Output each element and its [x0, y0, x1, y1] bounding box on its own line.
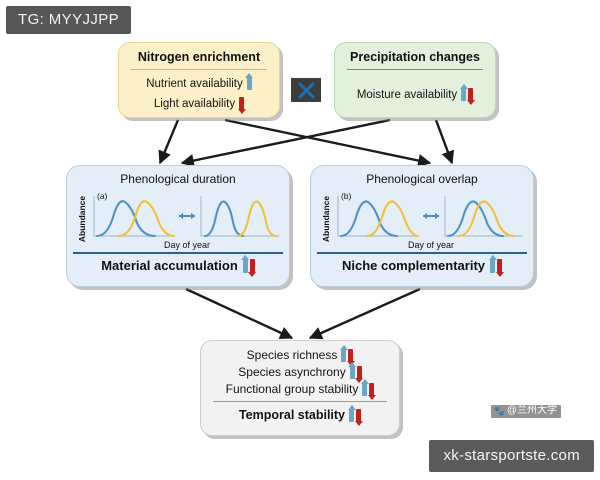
mechanism-panel-phenological-duration[interactable]: Phenological duration Abundance (a) — [66, 165, 290, 287]
divider-nitrogen — [131, 69, 267, 70]
arrow-down-icon — [468, 88, 473, 101]
watermark-tg-badge: TG: MYYJJPP — [6, 6, 131, 34]
interaction-multiply-icon — [291, 78, 321, 102]
driver-item-label: Moisture availability — [357, 89, 457, 101]
y-axis-label: Abundance — [321, 196, 331, 243]
arrow-down-icon — [357, 366, 362, 379]
driver-title-nitrogen: Nitrogen enrichment — [119, 43, 279, 64]
arrow-up-icon — [461, 88, 466, 101]
driver-item-nutrient-availability: Nutrient availability — [119, 77, 279, 90]
watermark-site-url: xk-starsportste.com — [429, 440, 594, 472]
outcome-summary-temporal-stability: Temporal stability — [201, 408, 399, 422]
arrow-up-icon — [362, 383, 367, 396]
divider-outcomes — [213, 401, 387, 402]
arrow-pair — [341, 349, 353, 362]
driver-item-moisture-availability: Moisture availability — [335, 88, 495, 101]
outcome-label: Species richness — [247, 348, 338, 362]
outcome-label: Species asynchrony — [238, 365, 345, 379]
arrow-pair — [349, 409, 361, 422]
arrow-down-icon — [239, 97, 244, 110]
arrow-pair — [350, 366, 362, 379]
arrow-up-icon — [341, 349, 346, 362]
multiply-glyph — [298, 82, 315, 99]
arrow-pair — [239, 97, 244, 110]
driver-item-light-availability: Light availability — [119, 97, 279, 110]
outcomes-box[interactable]: Species richness Species asynchrony Func… — [200, 340, 400, 436]
arrow-pair — [362, 383, 374, 396]
arrow-up-icon — [350, 366, 355, 379]
mechanism-title: Phenological duration — [67, 166, 289, 186]
watermark-chinese: 🐾 @兰州大学 — [491, 405, 561, 418]
mechanism-outcome-label: Niche complementarity — [342, 258, 485, 273]
arrow-down-icon — [348, 349, 353, 362]
outcome-summary-label: Temporal stability — [239, 408, 345, 422]
mechanism-outcome-material-accumulation: Material accumulation — [67, 254, 289, 273]
phenology-chart-b: Abundance (b) Day of year — [319, 188, 527, 250]
mechanism-title: Phenological overlap — [311, 166, 533, 186]
panel-letter: (a) — [97, 191, 108, 201]
arrow-down-icon — [497, 259, 502, 273]
divider-precipitation — [347, 69, 483, 70]
mechanism-panel-phenological-overlap[interactable]: Phenological overlap Abundance (b) Day o… — [310, 165, 534, 287]
arrow-down-icon — [369, 383, 374, 396]
mechanism-chart-a: Abundance (a) Day of year — [75, 188, 281, 250]
arrow-pair — [243, 259, 255, 273]
driver-item-label: Nutrient availability — [146, 78, 243, 90]
outcome-item-functional-group-stability: Functional group stability — [201, 382, 399, 396]
arrow-pair — [247, 77, 252, 90]
arrow-up-icon — [490, 259, 495, 273]
arrow-pair — [490, 259, 502, 273]
outcome-item-species-asynchrony: Species asynchrony — [201, 365, 399, 379]
arrow-down-icon — [250, 259, 255, 273]
watermark-chinese-text: @兰州大学 — [507, 406, 557, 416]
mechanism-outcome-niche-complementarity: Niche complementarity — [311, 254, 533, 273]
mechanism-outcome-label: Material accumulation — [101, 258, 238, 273]
driver-box-nitrogen[interactable]: Nitrogen enrichment Nutrient availabilit… — [118, 42, 280, 118]
mechanism-chart-b: Abundance (b) Day of year — [319, 188, 525, 250]
driver-title-precipitation: Precipitation changes — [335, 43, 495, 64]
x-axis-label: Day of year — [164, 240, 210, 250]
paw-icon: 🐾 — [494, 407, 505, 416]
driver-box-precipitation[interactable]: Precipitation changes Moisture availabil… — [334, 42, 496, 118]
arrow-pair — [461, 88, 473, 101]
y-axis-label: Abundance — [77, 196, 87, 243]
panel-letter: (b) — [341, 191, 352, 201]
outcome-label: Functional group stability — [226, 382, 359, 396]
phenology-chart-a: Abundance (a) Day of year — [75, 188, 283, 250]
diagram-canvas: Nitrogen enrichment Nutrient availabilit… — [0, 0, 600, 480]
driver-item-label: Light availability — [154, 98, 235, 110]
arrow-up-icon — [243, 259, 248, 273]
arrow-up-icon — [349, 409, 354, 422]
arrow-up-icon — [247, 77, 252, 90]
x-axis-label: Day of year — [408, 240, 454, 250]
outcome-item-species-richness: Species richness — [201, 348, 399, 362]
arrow-down-icon — [356, 409, 361, 422]
